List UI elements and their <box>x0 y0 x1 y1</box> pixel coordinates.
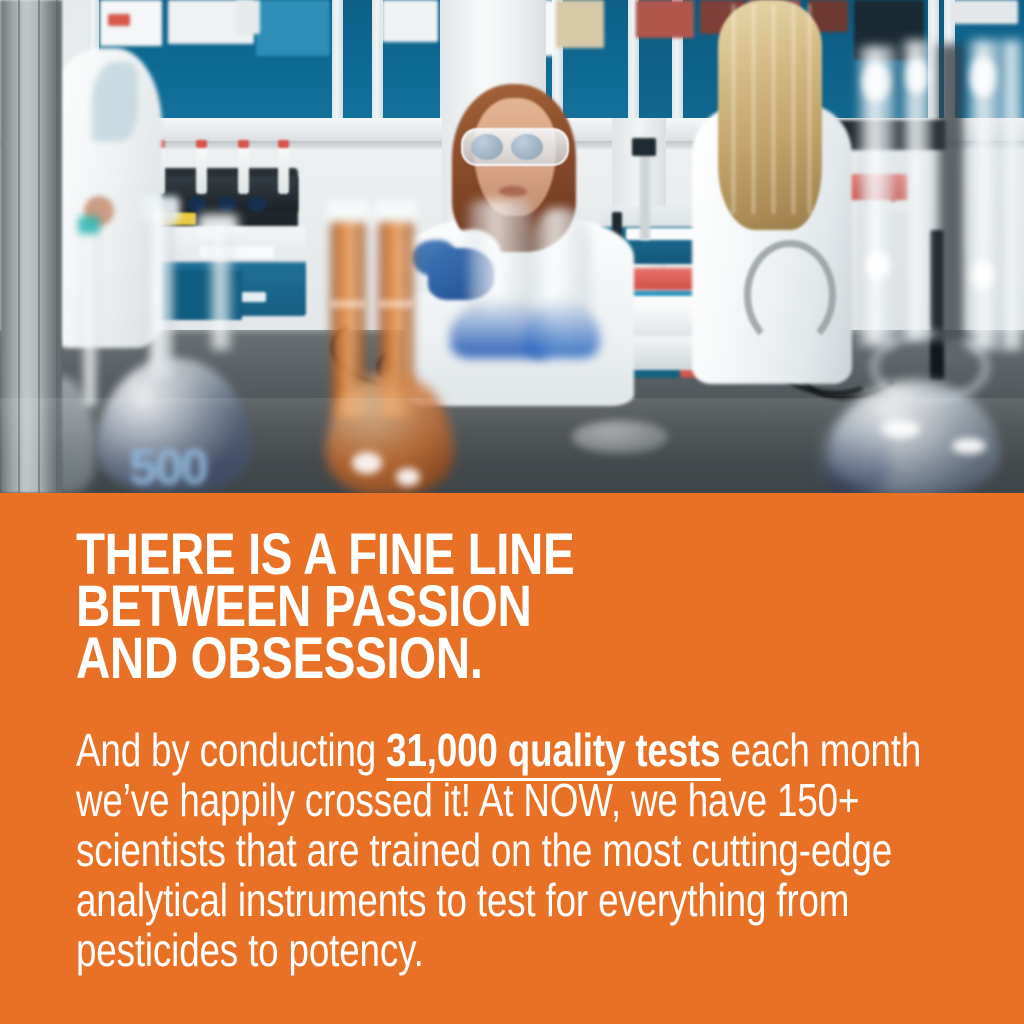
bench-reflection <box>0 398 1024 493</box>
glass-highlight <box>862 62 890 102</box>
glass-highlight <box>970 56 996 98</box>
rod-clamp <box>632 138 656 156</box>
flask-graduation-mark <box>330 300 366 308</box>
cabinet-box <box>256 0 330 56</box>
promotional-poster: 500 THERE I <box>0 0 1024 1024</box>
flask-graduation-mark <box>378 300 414 308</box>
cabinet-box <box>556 0 604 48</box>
equipment-column-dark <box>938 44 964 344</box>
cabinet-box <box>382 0 438 42</box>
pipette-tip <box>278 140 289 194</box>
graduated-cylinder-icon <box>1000 40 1024 350</box>
stat-highlight-quality-tests: 31,000 quality tests <box>386 724 720 781</box>
body-copy: And by conducting 31,000 quality tests e… <box>76 725 924 975</box>
support-rod <box>640 150 650 240</box>
goggles-lens-right <box>511 134 543 160</box>
laboratory-photo: 500 <box>0 0 1024 493</box>
glass-highlight <box>906 58 928 94</box>
vial <box>188 196 206 212</box>
cabinet-box <box>952 0 1018 24</box>
cabinet-mullion <box>332 0 343 118</box>
cabinet-box-label <box>108 14 130 26</box>
glass-highlight <box>866 250 890 280</box>
flask-neck <box>210 230 232 350</box>
orange-text-panel: THERE IS A FINE LINE BETWEEN PASSION AND… <box>0 493 1024 1024</box>
pipette-tip-teal <box>78 216 100 234</box>
flask-neck <box>148 210 174 380</box>
instrument-display <box>626 228 696 240</box>
cabinet-box <box>636 0 694 38</box>
page-title: THERE IS A FINE LINE BETWEEN PASSION AND… <box>76 529 814 685</box>
glass-highlight <box>972 260 994 290</box>
vial <box>248 196 266 212</box>
cabinet-box <box>236 0 260 34</box>
scientist-left-collar <box>92 62 138 142</box>
scientist-right-hair <box>718 0 822 230</box>
pipette-tip <box>196 140 207 194</box>
pipette-icon <box>82 226 98 406</box>
pipette-tip <box>238 140 249 194</box>
scientist-right-tubing <box>744 240 836 350</box>
scientist-center-mouth <box>499 186 527 197</box>
goggles-lens-left <box>471 134 503 160</box>
vial <box>218 196 236 212</box>
body-copy-before: And by conducting <box>76 724 386 776</box>
